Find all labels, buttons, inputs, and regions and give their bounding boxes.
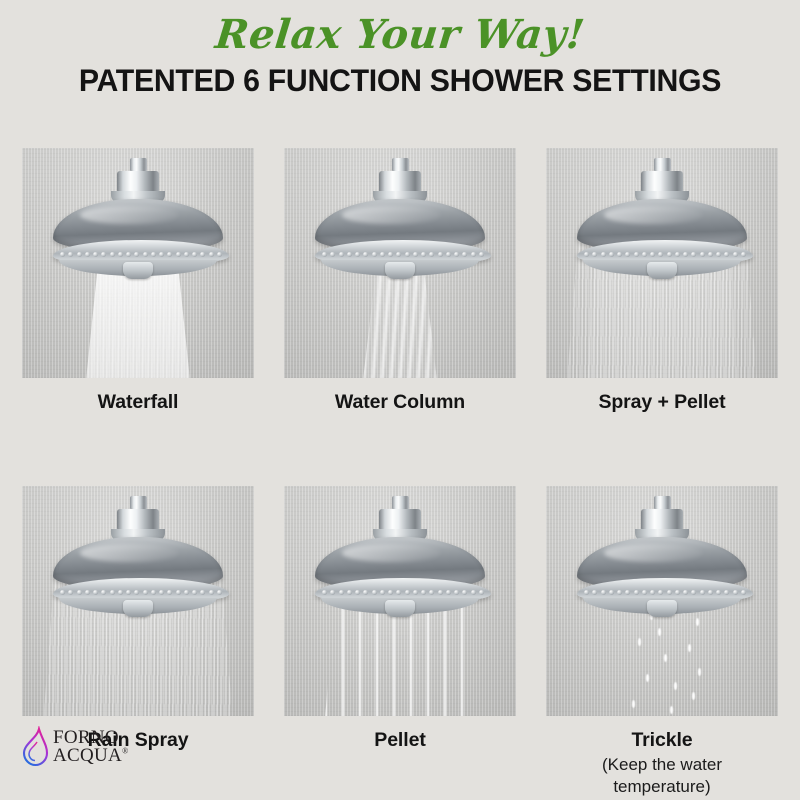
water-droplet-icon (20, 726, 50, 768)
setting-label: Trickle (546, 729, 778, 752)
setting-photo-waterfall (22, 148, 254, 378)
logo-wordmark: FORNO ACQUA® (53, 729, 128, 765)
showerhead-icon (315, 496, 485, 614)
setting-label: Pellet (284, 729, 516, 752)
showerhead-icon (53, 496, 223, 614)
script-title: Relax Your Way! (0, 14, 800, 56)
showerhead-icon (315, 158, 485, 276)
setting-sublabel: (Keep the water temperature) (546, 754, 778, 798)
registered-mark: ® (122, 747, 128, 756)
setting-card-spray-pellet[interactable]: Spray + Pellet (546, 148, 778, 414)
setting-label: Spray + Pellet (546, 391, 778, 414)
setting-photo-spray-pellet (546, 148, 778, 378)
logo-line-2-text: ACQUA (53, 745, 122, 766)
brand-logo: FORNO ACQUA® (20, 726, 128, 768)
setting-photo-pellet (284, 486, 516, 716)
setting-card-pellet[interactable]: Pellet (284, 486, 516, 798)
showerhead-icon (577, 158, 747, 276)
setting-label: Waterfall (22, 391, 254, 414)
shower-settings-grid: Waterfall Water Column (22, 148, 778, 798)
setting-photo-water-column (284, 148, 516, 378)
page-header: Relax Your Way! PATENTED 6 FUNCTION SHOW… (0, 0, 800, 99)
setting-card-trickle[interactable]: Trickle (Keep the water temperature) (546, 486, 778, 798)
showerhead-icon (577, 496, 747, 614)
setting-photo-trickle (546, 486, 778, 716)
showerhead-icon (53, 158, 223, 276)
setting-photo-rain-spray (22, 486, 254, 716)
setting-card-waterfall[interactable]: Waterfall (22, 148, 254, 414)
setting-card-water-column[interactable]: Water Column (284, 148, 516, 414)
setting-label: Water Column (284, 391, 516, 414)
logo-line-2: ACQUA® (53, 747, 128, 765)
page-title: PATENTED 6 FUNCTION SHOWER SETTINGS (16, 62, 784, 99)
